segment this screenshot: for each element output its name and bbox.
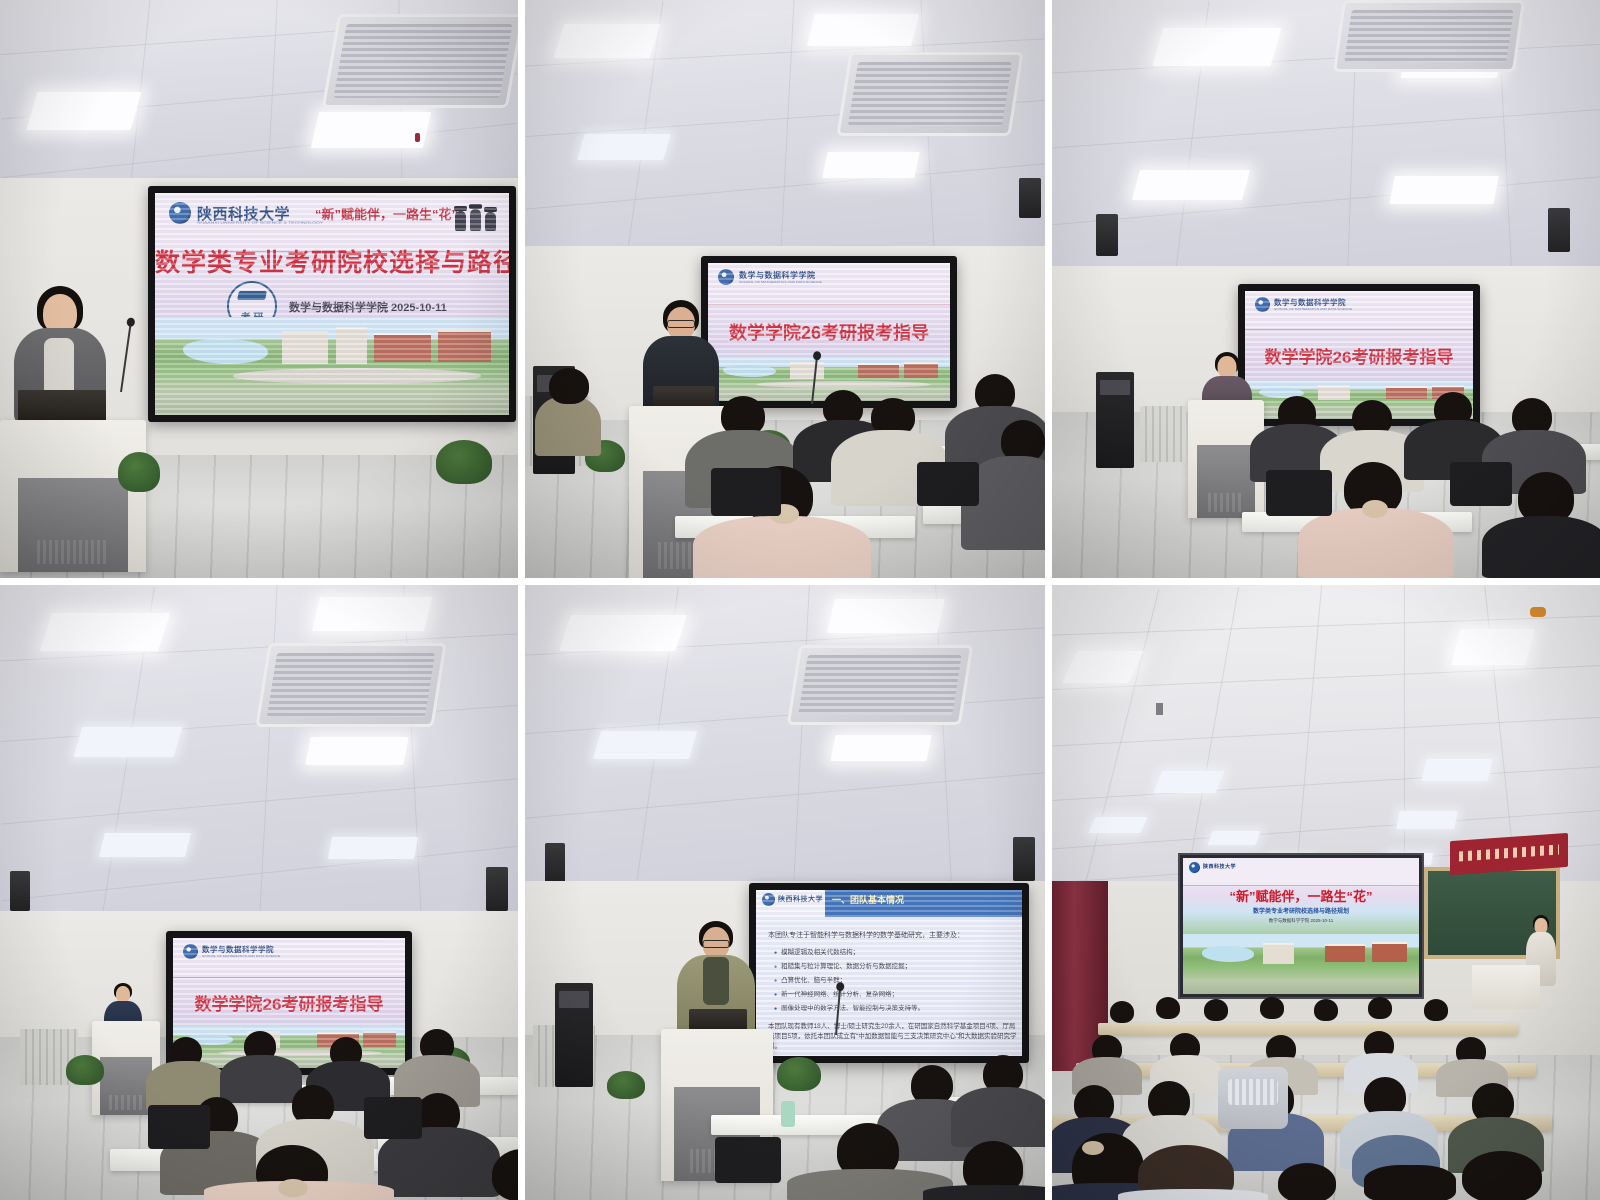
ceiling-light [1396, 811, 1457, 829]
student-head [549, 368, 589, 404]
ceiling-light [822, 152, 920, 178]
laptop [18, 390, 106, 422]
student-shoulders [923, 1185, 1045, 1200]
student-head [1424, 999, 1448, 1021]
chair [148, 1105, 210, 1149]
ceiling [0, 585, 518, 915]
student-head [1364, 1165, 1456, 1200]
student-head [1314, 999, 1338, 1021]
ceiling-light [328, 837, 418, 859]
graduates-illustration [451, 199, 503, 233]
student-head [1204, 999, 1228, 1021]
ceiling-light [99, 833, 191, 857]
ceiling-light [1452, 629, 1535, 665]
slide-session-title-text: 数学学院26考研报考指导 [173, 990, 405, 1015]
university-name: 陕西科技大学 [1203, 863, 1236, 870]
wall-speaker [1548, 208, 1570, 252]
student-desk [1098, 1023, 1518, 1035]
air-conditioner [255, 643, 446, 727]
college-name: 数学与数据科学学院 [202, 944, 274, 955]
panel-title-slide-with-female-presenter: 陕西科技大学 SHAANXI UNIVERSITY OF SCIENCE & T… [0, 0, 518, 578]
slide-slogan: “新”赋能伴，一路生“花” [315, 204, 458, 223]
college-name-en: SCHOOL OF MATHEMATICS AND DATA SCIENCE [1274, 308, 1352, 311]
ceiling-light [74, 727, 183, 757]
sprinkler-head [1156, 703, 1163, 715]
slide-session-title-text: 数学学院26考研报考指导 [1245, 343, 1473, 368]
ceiling [0, 0, 518, 182]
university-name: 陕西科技大学 [778, 894, 823, 904]
student-shoulders [1298, 508, 1454, 578]
ceiling-light [593, 731, 697, 759]
potted-plant [118, 452, 160, 492]
chair [1266, 470, 1332, 516]
wall-speaker [1019, 178, 1041, 218]
student-head [1368, 997, 1392, 1019]
air-conditioner [836, 52, 1023, 136]
college-logo-icon [1255, 297, 1270, 312]
hair-scrunchie [278, 1179, 308, 1197]
student-head [1156, 997, 1180, 1019]
water-bottle [781, 1101, 795, 1127]
team-stats-text: 本团队现有教师18人、博士/硕士研究生20余人，在研国家自然科学基金项目4项、厅… [768, 1022, 1018, 1052]
equipment-rack [1096, 372, 1134, 468]
panel-male-presenter-with-audience: 数学与数据科学学院 SCHOOL OF MATHEMATICS AND DATA… [525, 0, 1045, 578]
ceiling-light [577, 134, 670, 160]
ceiling-light [1154, 771, 1225, 793]
ceiling [1052, 0, 1600, 270]
ceiling-light [1207, 831, 1260, 845]
student-shoulders [693, 516, 871, 578]
ceiling [525, 585, 1045, 885]
ceiling-light [1153, 28, 1282, 66]
projected-meta: 数学与数据科学学院 2025-10-11 [1183, 918, 1419, 924]
chair [917, 462, 979, 506]
student-shoulders [535, 396, 601, 456]
college-logo-icon [183, 944, 198, 959]
student-head [1110, 1001, 1134, 1023]
sprinkler-head [415, 133, 420, 142]
projected-slide: 陕西科技大学 “新”赋能伴，一路生“花” 数学类专业考研院校选择与路径规划 数学… [1183, 858, 1419, 994]
ceiling-light [807, 14, 919, 46]
college-logo-icon [718, 269, 734, 285]
ceiling-light [1422, 759, 1493, 781]
student-head [1278, 1163, 1336, 1200]
student-shoulders [1482, 516, 1600, 578]
ceiling-light [311, 112, 431, 148]
air-conditioner [322, 14, 518, 108]
wall-speaker [1096, 214, 1118, 256]
ceiling-light [40, 613, 170, 651]
panel-wide-room-view: 数学与数据科学学院 SCHOOL OF MATHEMATICS AND DATA… [0, 585, 518, 1200]
ceiling-light [1389, 176, 1498, 204]
slide-team-intro: 陕西科技大学 一、团队基本情况 本团队专注于智能科学与数据科学的数学基础研究，主… [756, 890, 1022, 1056]
photo-collage: 陕西科技大学 SHAANXI UNIVERSITY OF SCIENCE & T… [0, 0, 1600, 1200]
ceiling-light [312, 597, 432, 631]
panel-team-introduction-slide: 陕西科技大学 一、团队基本情况 本团队专注于智能科学与数据科学的数学基础研究，主… [525, 585, 1045, 1200]
slide-session-title-text: 数学学院26考研报考指导 [708, 319, 950, 345]
panel-large-lecture-hall: 陕西科技大学 “新”赋能伴，一路生“花” 数学类专业考研院校选择与路径规划 数学… [1052, 585, 1600, 1200]
podium [0, 420, 146, 572]
laptop [689, 1009, 747, 1031]
university-name-en: SHAANXI UNIVERSITY OF SCIENCE & TECHNOLO… [197, 221, 323, 226]
ceiling-light [27, 92, 142, 130]
potted-plant [436, 440, 492, 484]
ceiling-light [830, 735, 931, 761]
potted-plant [607, 1071, 645, 1099]
chair [715, 1137, 781, 1183]
wall-speaker [1013, 837, 1035, 881]
team-bullet: 粗糙集与粒计算理论、数据分析与数据挖掘； [774, 960, 911, 970]
panel-audience-view-toward-screen: 数学与数据科学学院 SCHOOL OF MATHEMATICS AND DATA… [1052, 0, 1600, 578]
college-name-en: SCHOOL OF MATHEMATICS AND DATA SCIENCE [202, 955, 280, 958]
glasses-icon [703, 940, 730, 948]
chair [364, 1097, 422, 1139]
university-logo-icon [762, 893, 775, 906]
campus-photo [155, 317, 509, 415]
ceiling-light [827, 599, 945, 633]
equipment-rack [555, 983, 593, 1087]
wall-speaker [10, 871, 30, 911]
air-conditioner [787, 645, 974, 725]
podium [1472, 965, 1540, 1009]
slide-meta: 数学与数据科学学院 2025-10-11 [289, 299, 447, 315]
student-head [1260, 997, 1284, 1019]
potted-plant [66, 1055, 104, 1085]
chair [1450, 462, 1512, 506]
university-logo-icon [1189, 862, 1200, 873]
slide-section-title: 一、团队基本情况 [832, 893, 904, 906]
student-shoulders [220, 1055, 302, 1103]
ceiling-light [305, 737, 408, 765]
projected-slogan: “新”赋能伴，一路生“花” [1183, 886, 1419, 905]
wall-speaker [486, 867, 508, 911]
smoke-detector [1530, 607, 1546, 617]
team-bullet: 模糊逻辑及相关代数结构； [774, 946, 859, 956]
led-screen: 数学与数据科学学院 SCHOOL OF MATHEMATICS AND DATA… [701, 256, 957, 408]
slide-session-title: 数学与数据科学学院 SCHOOL OF MATHEMATICS AND DATA… [708, 263, 950, 401]
student-shoulders [1118, 1189, 1268, 1200]
radiator [1140, 406, 1186, 462]
student-shoulders [951, 1087, 1045, 1147]
led-screen: 陕西科技大学 SHAANXI UNIVERSITY OF SCIENCE & T… [148, 186, 516, 422]
air-conditioner [1333, 0, 1525, 72]
team-bullet: 图像处理中的数学方法、智能控制与决策支持等。 [774, 1002, 924, 1012]
ceiling-light [1132, 170, 1250, 200]
team-bullet: 凸算优化、脑与半群； [774, 974, 846, 984]
audience-rows [1052, 1023, 1600, 1200]
ceiling [525, 0, 1045, 250]
college-name: 数学与数据科学学院 [739, 270, 816, 281]
led-screen: 陕西科技大学 一、团队基本情况 本团队专注于智能科学与数据科学的数学基础研究，主… [749, 883, 1029, 1063]
chair [711, 468, 781, 516]
team-intro-text: 本团队专注于智能科学与数据科学的数学基础研究，主要涉及： [768, 930, 964, 940]
led-screen: 数学与数据科学学院 SCHOOL OF MATHEMATICS AND DATA… [166, 931, 412, 1075]
projection-screen: 陕西科技大学 “新”赋能伴，一路生“花” 数学类专业考研院校选择与路径规划 数学… [1178, 853, 1424, 999]
slide-title: 陕西科技大学 SHAANXI UNIVERSITY OF SCIENCE & T… [155, 193, 509, 415]
university-logo-icon [169, 202, 191, 224]
potted-plant [777, 1057, 821, 1091]
glasses-icon [667, 320, 695, 328]
slide-main-title: 数学类专业考研院校选择与路径规划 [155, 243, 509, 279]
hair-scrunchie [1362, 500, 1388, 518]
projected-subtitle: 数学类专业考研院校选择与路径规划 [1183, 906, 1419, 915]
wall-speaker [545, 843, 565, 883]
ceiling-light [1088, 817, 1147, 833]
ceiling-light [553, 24, 660, 58]
college-name-en: SCHOOL OF MATHEMATICS AND DATA SCIENCE [739, 281, 822, 284]
campus-photo [1183, 934, 1419, 994]
slide-session-title: 数学与数据科学学院 SCHOOL OF MATHEMATICS AND DATA… [173, 938, 405, 1068]
hair-scrunchie [1082, 1141, 1104, 1155]
ceiling-light [559, 615, 687, 651]
student-head [1462, 1151, 1542, 1200]
college-name: 数学与数据科学学院 [1274, 297, 1346, 308]
